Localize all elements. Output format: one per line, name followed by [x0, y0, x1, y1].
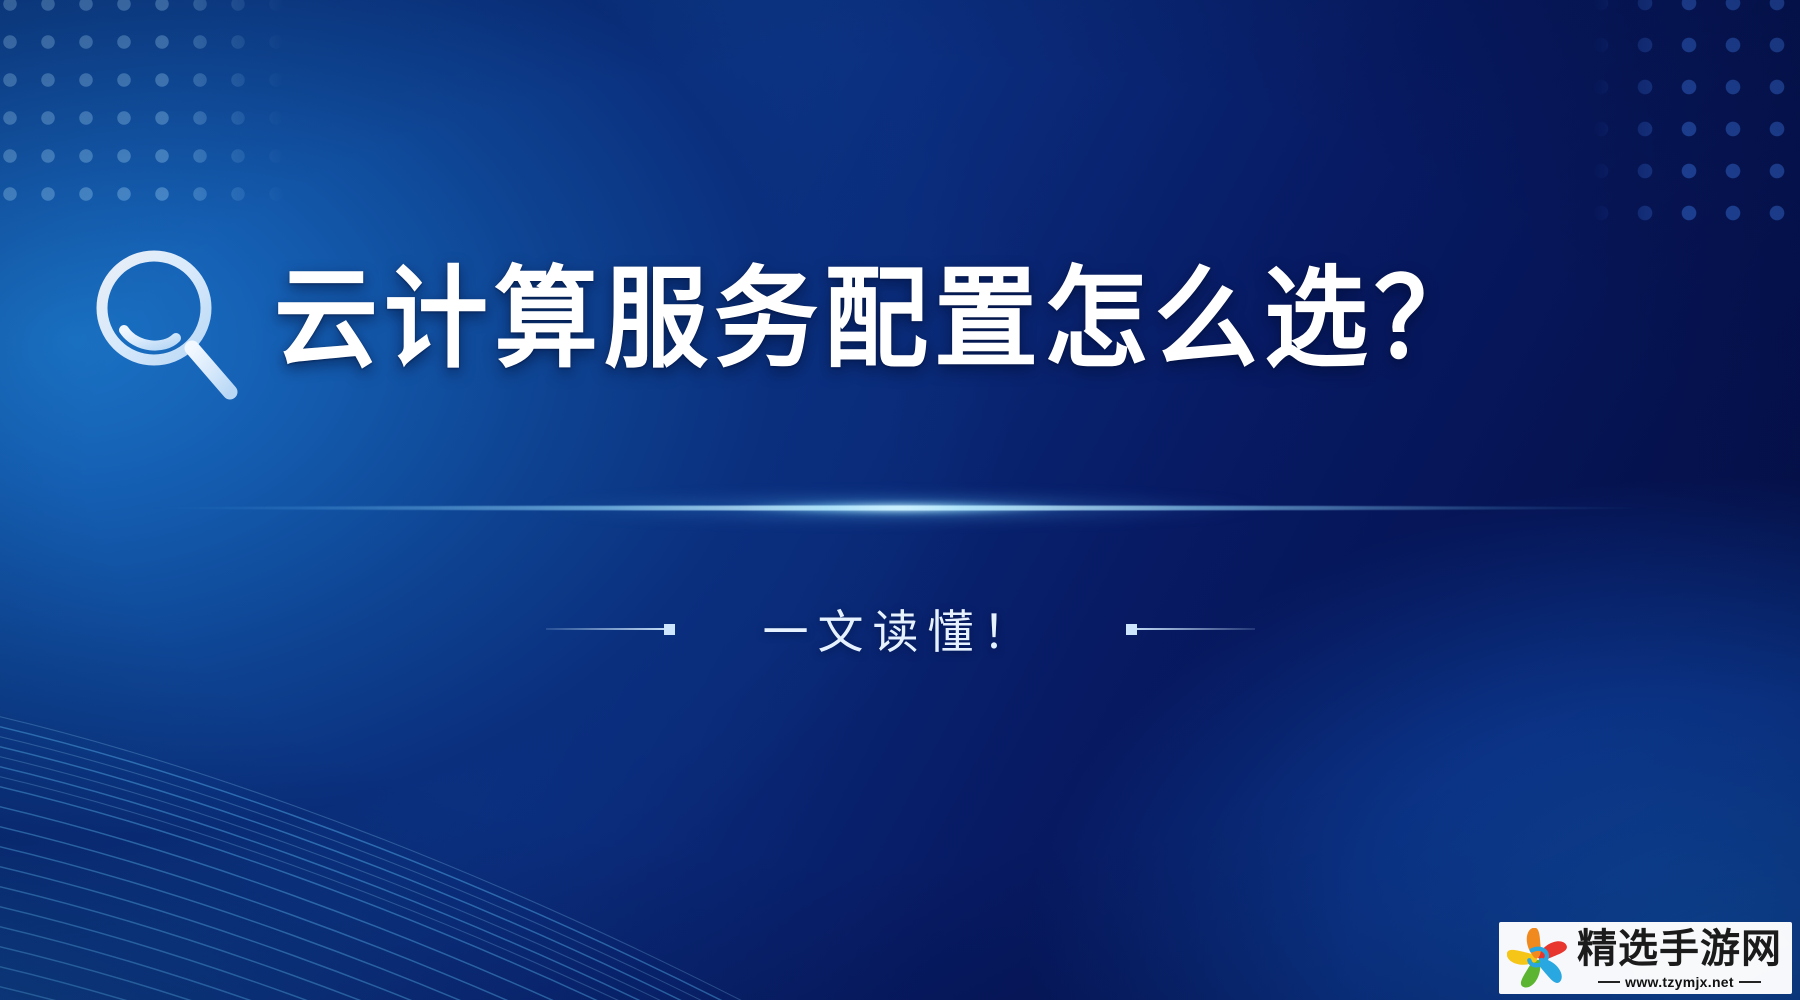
wave-lines-decoration: [0, 500, 1040, 1000]
watermark-text-column: 精选手游网 www.tzymjx.net: [1577, 929, 1782, 990]
decorative-line-left: [546, 622, 675, 636]
watermark-dash-right: [1739, 981, 1761, 983]
dot-grid-top-right: [1590, 0, 1800, 222]
light-beam-core: [735, 502, 1065, 515]
watermark-url-row: www.tzymjx.net: [1577, 974, 1782, 990]
rule-square-left: [664, 624, 675, 635]
subtitle-row: 一文读懂！: [0, 596, 1800, 662]
rule-line-right: [1137, 628, 1255, 630]
watermark-site-name: 精选手游网: [1577, 929, 1782, 969]
decorative-line-right: [1126, 622, 1255, 636]
subtitle: 一文读懂！: [763, 596, 1038, 662]
promo-banner: 云计算服务配置怎么选？ 一文读懂！: [0, 0, 1800, 1000]
pinwheel-logo-icon: [1507, 928, 1569, 990]
dot-grid-top-left: [0, 0, 286, 206]
watermark: 精选手游网 www.tzymjx.net: [1499, 922, 1792, 994]
rule-line-left: [546, 628, 664, 630]
watermark-dash-left: [1598, 981, 1620, 983]
rule-square-right: [1126, 624, 1137, 635]
magnifier-icon: [88, 244, 238, 402]
watermark-url: www.tzymjx.net: [1625, 974, 1734, 990]
page-title: 云计算服务配置怎么选？: [274, 264, 1484, 376]
headline-row: 云计算服务配置怎么选？: [88, 238, 1508, 402]
